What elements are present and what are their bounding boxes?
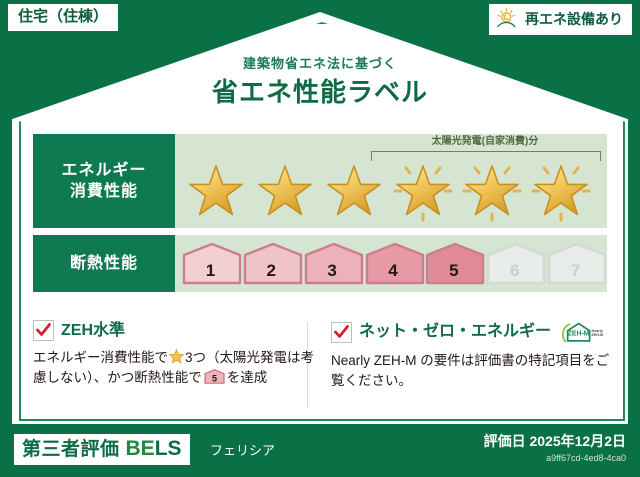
- evaluation-info: 評価日 2025年12月2日 a9ff67cd-4ed8-4ca0: [484, 432, 626, 465]
- inline-level-badge: 5: [204, 369, 225, 384]
- label-heading: 建築物省エネ法に基づく 省エネ性能ラベル: [0, 56, 640, 109]
- solar-portion-caption: 太陽光発電(自家消費)分: [365, 135, 605, 148]
- heading-subtitle: 建築物省エネ法に基づく: [0, 56, 640, 72]
- claim-zeh-text-3: を達成: [227, 370, 268, 385]
- claims-section: ZEH水準 エネルギー消費性能で3つ（太陽光発電は考慮しない）、かつ断熱性能で5…: [33, 320, 613, 391]
- star-solar: [526, 160, 595, 224]
- claim-zeh-description: エネルギー消費性能で3つ（太陽光発電は考慮しない）、かつ断熱性能で5を達成: [33, 348, 315, 388]
- claim-zeh-title: ZEH水準: [61, 321, 125, 341]
- check-icon: [333, 323, 350, 341]
- energy-label-line2: 消費性能: [70, 181, 138, 202]
- heading-title: 省エネ性能ラベル: [0, 75, 640, 109]
- claim-nze-header: ネット・ゼロ・エネルギー ZEH-M Nearly ZEH-M: [331, 320, 613, 344]
- insulation-performance-label: 断熱性能: [33, 235, 175, 292]
- energy-label-line1: エネルギー: [61, 160, 146, 181]
- star-icon: [325, 163, 383, 221]
- insulation-level-number: 1: [206, 262, 215, 286]
- star-base: [319, 160, 388, 224]
- claim-zeh-header: ZEH水準: [33, 320, 315, 341]
- insulation-level-6: 6: [485, 242, 544, 286]
- insulation-label-text: 断熱性能: [70, 253, 138, 274]
- star-icon: [256, 163, 314, 221]
- performance-rows: エネルギー 消費性能 太陽光発電(自家消費)分 断熱性能 1234567: [33, 134, 607, 299]
- claim-nze-title: ネット・ゼロ・エネルギー: [359, 322, 551, 342]
- svg-text:ZEH-M: ZEH-M: [591, 333, 603, 337]
- evaluation-id: a9ff67cd-4ed8-4ca0: [484, 452, 626, 465]
- insulation-level-badges: 1234567: [175, 235, 607, 292]
- insulation-level-number: 3: [327, 262, 336, 286]
- inline-star-icon: [169, 349, 184, 364]
- check-icon: [35, 321, 52, 339]
- energy-performance-row: エネルギー 消費性能 太陽光発電(自家消費)分: [33, 134, 607, 228]
- building-type-label: 住宅（住棟）: [18, 8, 108, 26]
- insulation-level-5: 5: [424, 242, 483, 286]
- star-base: [181, 160, 250, 224]
- svg-text:ZEH-M: ZEH-M: [568, 330, 590, 337]
- star-solar: [457, 160, 526, 224]
- checkbox-net-zero-energy: [331, 322, 352, 343]
- star-icon: [463, 163, 521, 221]
- star-solar: [388, 160, 457, 224]
- insulation-level-2: 2: [242, 242, 301, 286]
- inline-house-badge-icon: 5: [204, 369, 225, 384]
- insulation-level-1: 1: [181, 242, 240, 286]
- solar-portion-bracket: [371, 151, 601, 161]
- insulation-level-number: 2: [267, 262, 276, 286]
- star-base: [250, 160, 319, 224]
- renewable-energy-label: 再エネ設備あり: [525, 10, 623, 28]
- claim-zeh-text-1: エネルギー消費性能で: [33, 350, 168, 365]
- insulation-level-number: 4: [388, 262, 397, 286]
- owner-name: フェリシア: [210, 442, 275, 460]
- bels-jp-label: 第三者評価: [22, 438, 120, 461]
- zeh-m-logo-icon: ZEH-M Nearly ZEH-M: [560, 320, 604, 344]
- claim-zeh-standard: ZEH水準 エネルギー消費性能で3つ（太陽光発電は考慮しない）、かつ断熱性能で5…: [33, 320, 315, 391]
- energy-rating-area: 太陽光発電(自家消費)分: [175, 134, 607, 228]
- energy-performance-label: 住宅（住棟） 再エネ設備あり 建築物省エネ法に基づく 省エネ性能ラベル エネルギ…: [0, 0, 640, 477]
- bels-en-label: BELS: [126, 437, 182, 460]
- insulation-level-3: 3: [303, 242, 362, 286]
- insulation-level-number: 6: [510, 262, 519, 286]
- claim-nze-description: Nearly ZEH-M の要件は評価書の特記項目をご覧ください。: [331, 351, 613, 391]
- bels-en-part2: LS: [155, 437, 182, 460]
- insulation-level-7: 7: [546, 242, 605, 286]
- checkbox-zeh-standard: [33, 320, 54, 341]
- bels-en-part1: BE: [126, 437, 155, 460]
- claim-net-zero-energy: ネット・ゼロ・エネルギー ZEH-M Nearly ZEH-M Nearly Z…: [331, 320, 613, 391]
- energy-performance-label: エネルギー 消費性能: [33, 134, 175, 228]
- renewable-energy-badge: 再エネ設備あり: [489, 4, 632, 35]
- evaluation-date: 評価日 2025年12月2日: [484, 432, 626, 451]
- solar-renewable-icon: [496, 8, 520, 30]
- insulation-performance-row: 断熱性能 1234567: [33, 235, 607, 292]
- building-type-badge: 住宅（住棟）: [8, 4, 118, 31]
- insulation-level-number: 7: [571, 262, 580, 286]
- star-icon: [394, 163, 452, 221]
- star-icon: [187, 163, 245, 221]
- insulation-rating-area: 1234567: [175, 235, 607, 292]
- bottom-bar: 第三者評価 BELS フェリシア 評価日 2025年12月2日 a9ff67cd…: [0, 424, 640, 477]
- svg-text:5: 5: [212, 373, 217, 383]
- insulation-level-4: 4: [364, 242, 423, 286]
- bels-certification-badge: 第三者評価 BELS: [14, 434, 190, 465]
- insulation-level-number: 5: [449, 262, 458, 286]
- star-icon: [532, 163, 590, 221]
- energy-star-rating: [175, 160, 607, 224]
